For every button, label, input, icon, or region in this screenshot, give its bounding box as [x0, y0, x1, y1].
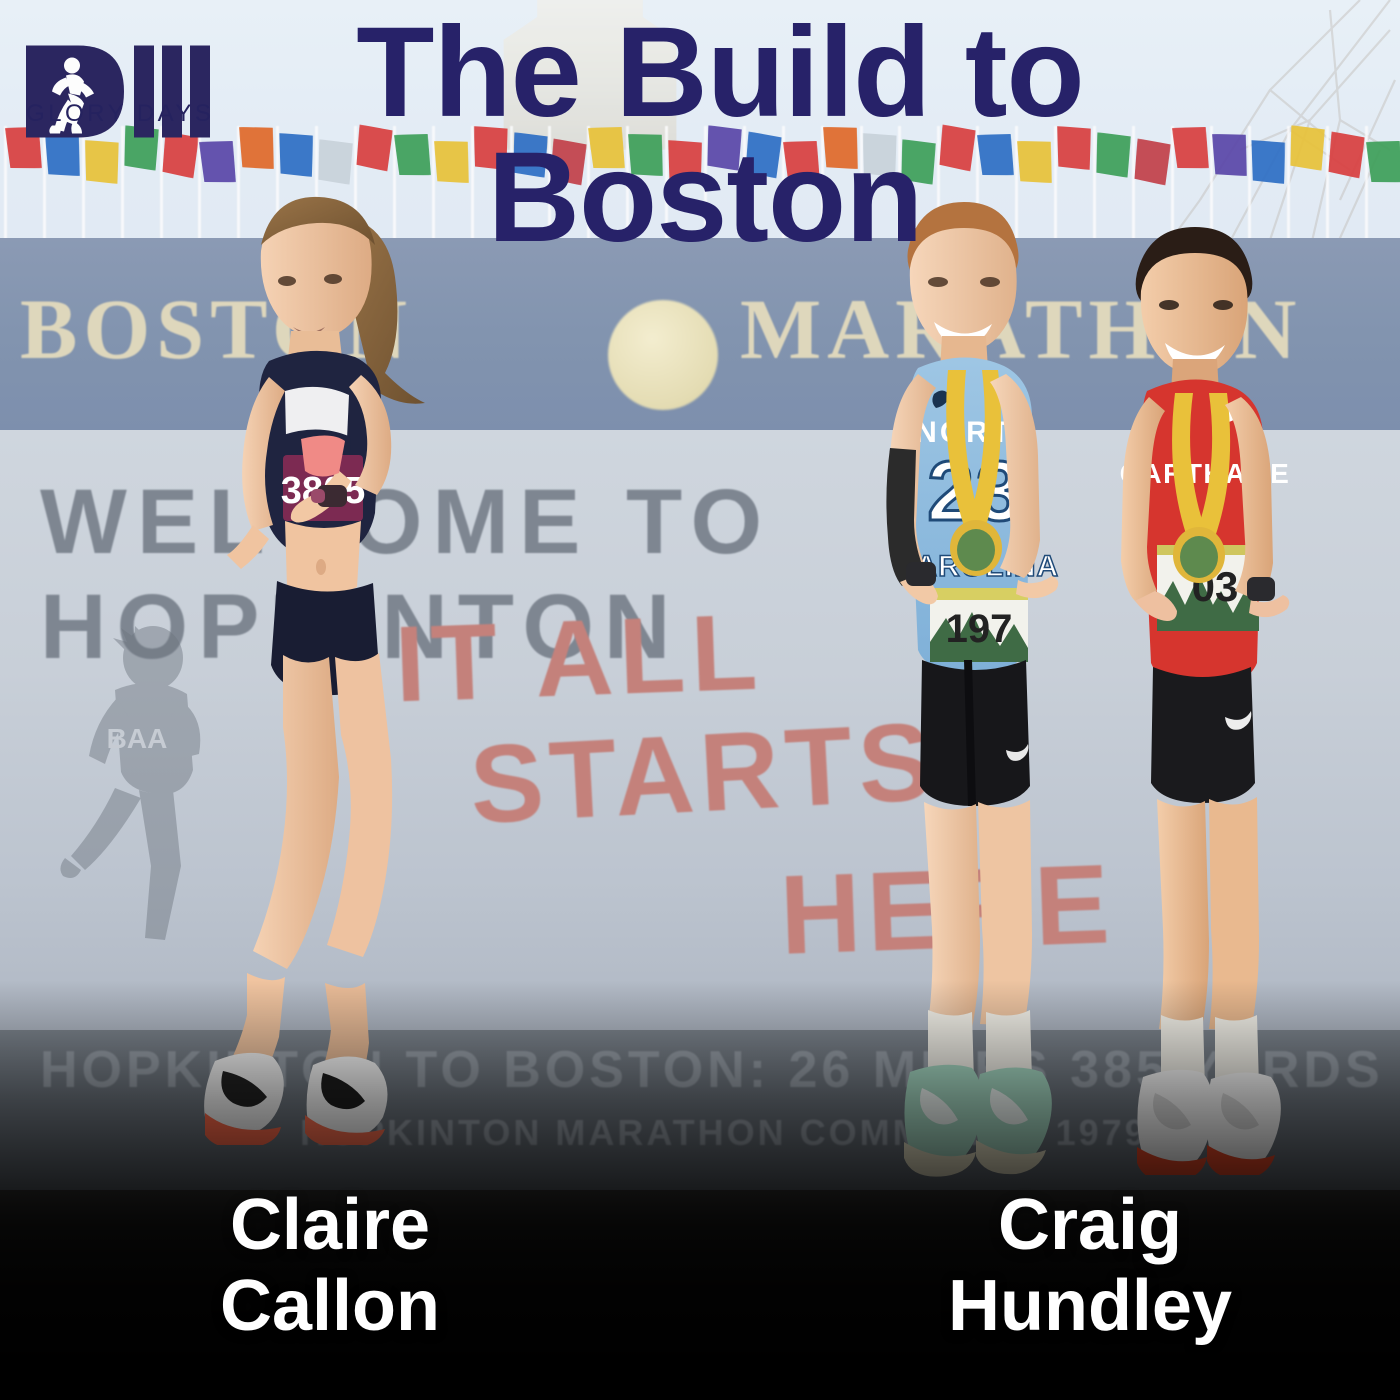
flag-icon	[239, 125, 275, 171]
flag-icon	[744, 131, 782, 178]
flag-pole	[548, 126, 551, 244]
athlete-cutout-carthage: CARTHAGE 03	[1075, 215, 1325, 1175]
flag-icon	[588, 124, 626, 171]
flag-icon	[1133, 138, 1171, 185]
race-bib-number-carolina: 197	[946, 607, 1013, 651]
unicorn-medallion-icon	[608, 300, 718, 410]
flag-icon	[977, 131, 1015, 178]
athlete-first-name-left: Claire	[120, 1185, 540, 1266]
flag-pole	[704, 126, 707, 244]
flag-icon	[474, 126, 508, 170]
athlete-last-name-right: Hundley	[880, 1266, 1300, 1347]
flag-pole	[821, 126, 824, 244]
running-shoe-white-left	[1137, 1070, 1214, 1175]
athlete-first-name-right: Craig	[880, 1185, 1300, 1266]
flag-icon	[1017, 139, 1053, 185]
d3-glory-days-logo[interactable]	[22, 24, 212, 159]
flag-icon	[783, 138, 821, 185]
flag-icon	[434, 139, 470, 185]
race-bib-carolina: 197	[930, 588, 1028, 662]
flag-icon	[938, 124, 976, 171]
flag-icon	[279, 133, 313, 177]
flag-icon	[1251, 140, 1285, 184]
athlete-last-name-left: Callon	[120, 1266, 540, 1347]
flag-pole	[743, 126, 746, 244]
athlete-cutout-claire-callon: 3805	[165, 185, 495, 1145]
flag-icon	[1366, 138, 1400, 185]
flag-icon	[1211, 132, 1247, 178]
podcast-cover-art: BOSTON MARATHON WELCOME TO HOPKINTON BAA…	[0, 0, 1400, 1400]
flag-icon	[1171, 124, 1209, 171]
flag-icon	[1289, 125, 1325, 171]
silhouette-label: BAA	[107, 723, 168, 754]
flag-pole	[665, 126, 668, 244]
flag-icon	[668, 140, 702, 184]
running-shoe-right	[305, 1056, 388, 1145]
running-shoe-mint-right	[975, 1067, 1051, 1174]
flag-icon	[628, 132, 664, 178]
flag-icon	[1095, 132, 1131, 178]
flag-icon	[355, 124, 393, 171]
running-shoe-mint-left	[904, 1065, 983, 1177]
flag-icon	[1327, 131, 1365, 178]
flag-icon	[549, 138, 587, 185]
flag-pole	[587, 126, 590, 244]
flag-icon	[1057, 126, 1091, 170]
running-shoe-white-right	[1206, 1072, 1280, 1175]
flag-icon	[511, 132, 547, 178]
flag-icon	[863, 133, 897, 177]
flag-icon	[823, 125, 859, 171]
flag-pole	[1326, 126, 1329, 244]
flag-icon	[706, 125, 742, 171]
flag-icon	[900, 139, 936, 185]
logo-tagline: GLORY DAYS	[26, 100, 214, 128]
running-shoe-left	[204, 1053, 284, 1145]
flag-icon	[317, 139, 353, 185]
flag-pole	[510, 126, 513, 244]
flag-icon	[394, 131, 432, 178]
flag-pole	[4, 126, 7, 244]
athlete-name-right: Craig Hundley	[880, 1185, 1300, 1346]
athlete-cutout-carolina: NORTH 23 CAROLINA 197	[830, 190, 1090, 1180]
athlete-name-left: Claire Callon	[120, 1185, 540, 1346]
